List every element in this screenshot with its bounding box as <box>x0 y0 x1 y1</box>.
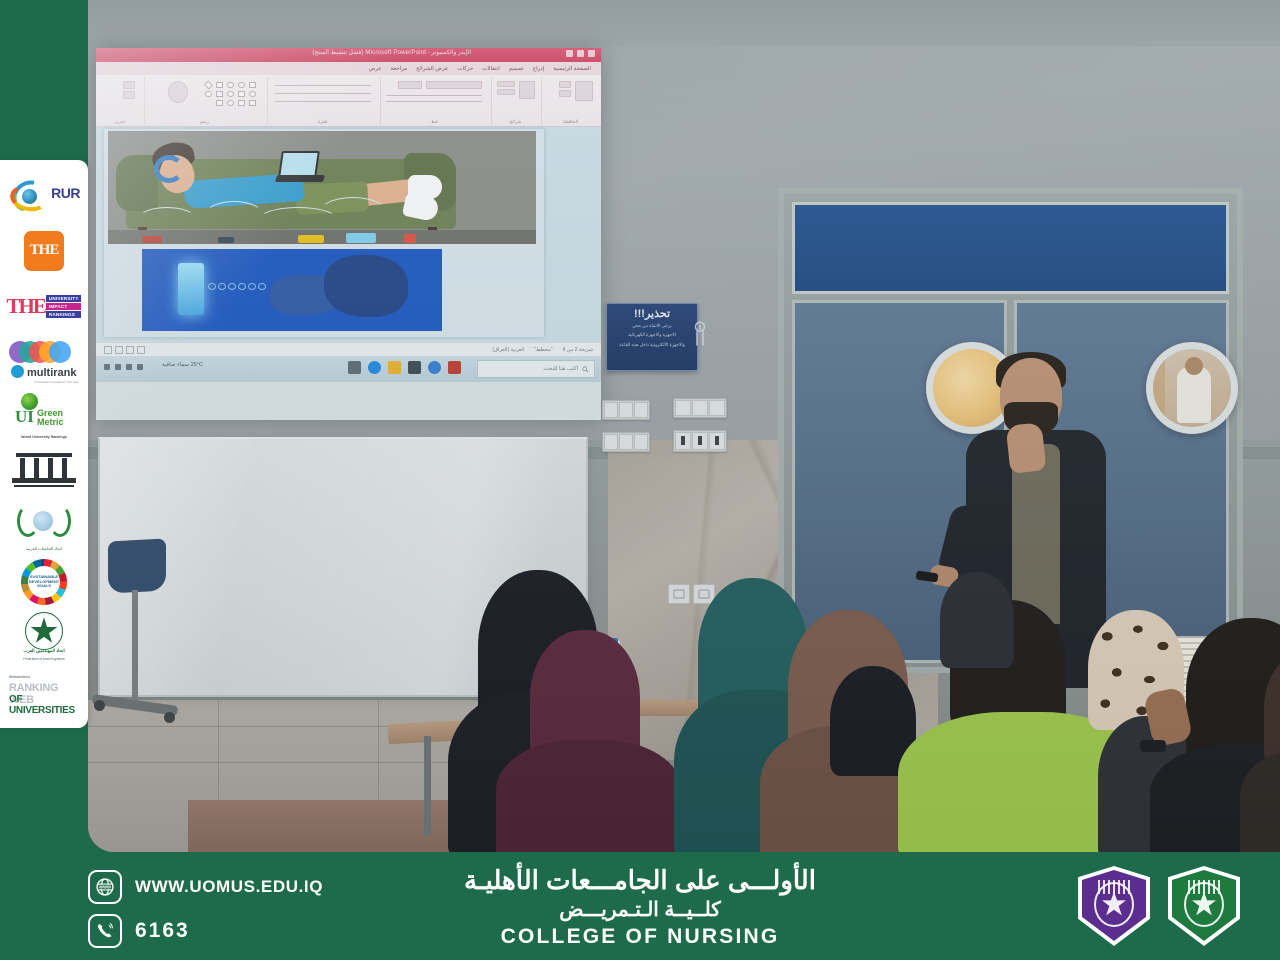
title-english: COLLEGE OF NURSING <box>310 923 970 950</box>
layout-icon[interactable] <box>497 81 515 87</box>
find-icon[interactable] <box>123 81 135 89</box>
logo-multirank-sub: Universities Compared. Your way. <box>34 380 79 384</box>
replace-icon[interactable] <box>123 91 135 99</box>
copy-icon[interactable] <box>559 90 571 97</box>
logo-rur: RUR <box>7 168 81 223</box>
light-switch-panel-1[interactable] <box>602 400 650 420</box>
language-label: العربية (العراق) <box>492 347 524 353</box>
light-switch-panel-4[interactable] <box>673 430 727 452</box>
tab-slideshow[interactable]: عرض الشرائح <box>416 66 448 72</box>
chair-stem <box>132 590 138 708</box>
phone-icon-svg <box>95 921 115 941</box>
warning-line-2: الاجهزة والاجهزة الكهربائية <box>613 332 691 338</box>
warning-line-1: يرجى الانتباه من بعض <box>613 323 691 329</box>
logo-webometrics-line-2: OF UNIVERSITIES <box>9 694 81 716</box>
window-buttons[interactable] <box>566 50 595 57</box>
ribbon-label-clipboard: الحافظة <box>542 119 599 125</box>
phone-label[interactable]: 6163 <box>135 919 190 943</box>
ribbon-label-slides: شرائح <box>492 119 539 125</box>
edge-icon[interactable] <box>428 361 441 374</box>
projection-screen: الإيدز والكمبيوتر - Microsoft PowerPoint… <box>96 48 601 420</box>
logo-greenmetric-ui: UI <box>15 407 34 427</box>
cartoon-book <box>142 236 162 243</box>
ribbon-label-font: خط <box>381 119 488 125</box>
college-title-block: الأولـــى على الجامـــعات الأهليـة كلــي… <box>310 864 970 950</box>
tab-design[interactable]: تصميم <box>509 66 524 72</box>
ribbon-group-drawing[interactable]: رسم <box>144 77 264 125</box>
ribbon-tabs[interactable]: الصفحة الرئيسية إدراج تصميم انتقالات حرك… <box>96 62 601 75</box>
presenter-hand <box>1006 422 1047 474</box>
font-size-select[interactable] <box>398 81 422 89</box>
explorer-icon[interactable] <box>388 361 401 374</box>
logo-umultirank: multirank Universities Compared. Your wa… <box>7 334 81 389</box>
logo-sdg-label: SUSTAINABLE DEVELOPMENT GOALS <box>28 575 60 588</box>
logo-fae-english: Federation of Arab Engineers <box>11 657 77 661</box>
tab-animations[interactable]: حركات <box>457 66 473 72</box>
title-arabic-line-2: كلــيــة الـتـمريـــض <box>310 897 970 923</box>
cut-icon[interactable] <box>559 81 571 88</box>
wristwatch <box>1140 740 1166 752</box>
university-crest-purple <box>1078 866 1150 946</box>
logo-impact-line-2: IMPACT <box>46 303 82 310</box>
logo-greenmetric-metric: Metric <box>37 417 64 427</box>
slide-image-couch-cartoon <box>108 131 536 244</box>
student-maroon-hijab-shoulders <box>496 740 682 852</box>
store-icon[interactable] <box>408 361 421 374</box>
logo-association-arab-universities: اتحاد الجامعات العربية <box>7 499 81 554</box>
chevron-up-icon[interactable] <box>137 364 143 370</box>
ribbon-group-font[interactable]: خط <box>380 77 488 125</box>
footer-bar: WWW WWW.UOMUS.EDU.IQ 6163 الأولـــى على … <box>0 852 1280 960</box>
sorter-view-icon[interactable] <box>126 346 134 354</box>
close-icon[interactable] <box>588 50 595 57</box>
porthole-window-right <box>1146 342 1238 434</box>
normal-view-icon[interactable] <box>137 346 145 354</box>
slide-image-chained-to-phone <box>142 249 442 331</box>
logo-building-emblem <box>7 444 81 499</box>
globe-www-icon: WWW <box>88 870 122 904</box>
globe-icon-svg: WWW <box>95 877 115 897</box>
cartoon-laptop <box>276 151 322 185</box>
logo-webometrics: Webometrics RANKING WEB OF UNIVERSITIES <box>7 665 81 720</box>
battery-icon[interactable] <box>104 364 110 370</box>
powerpoint-ribbon[interactable]: الحافظة شرائح خط <box>96 75 601 127</box>
taskbar-weather[interactable]: 25°C سماء صافية <box>162 362 203 368</box>
tab-view[interactable]: عرض <box>369 66 382 72</box>
new-slide-icon[interactable] <box>519 81 535 99</box>
taskbar-system-tray[interactable] <box>104 364 143 370</box>
maximize-icon[interactable] <box>577 50 584 57</box>
title-arabic-line-1: الأولـــى على الجامـــعات الأهليـة <box>310 864 970 897</box>
desk-leg-1 <box>424 736 431 836</box>
cartoon-phone <box>404 234 416 243</box>
slide-canvas[interactable] <box>104 129 544 337</box>
minimize-icon[interactable] <box>566 50 573 57</box>
office-chair <box>108 538 166 593</box>
warning-line-3: والاجهزة الالكترونية داخل هذه القاعة <box>613 342 691 348</box>
logo-the-impact-mark: THE <box>7 296 45 317</box>
search-placeholder-text: اكتب هنا للبحث <box>543 366 578 372</box>
classroom-photo: الإيدز والكمبيوتر - Microsoft PowerPoint… <box>88 0 1280 852</box>
reset-icon[interactable] <box>497 89 515 95</box>
logo-impact-line-1: UNIVERSITY <box>46 295 82 302</box>
slide-number-label: شريحة 2 من 4 <box>563 347 593 353</box>
powerpoint-statusbar: شريحة 2 من 4 "مخطط" العربية (العراق) <box>96 342 601 356</box>
warning-title: تحذير!!! <box>613 308 691 320</box>
svg-text:WWW: WWW <box>99 884 112 889</box>
ribbon-label-paragraph: فقرة <box>268 119 377 125</box>
ribbon-group-slides[interactable]: شرائح <box>491 77 539 125</box>
crest-block <box>1078 866 1240 946</box>
ribbon-group-paragraph[interactable]: فقرة <box>267 77 377 125</box>
logo-fae-arabic: اتحاد المهندسين العرب <box>11 648 77 654</box>
logo-arab-universities-label: اتحاد الجامعات العربية <box>11 546 77 551</box>
network-icon[interactable] <box>126 364 132 370</box>
powerpoint-titlebar: الإيدز والكمبيوتر - Microsoft PowerPoint… <box>96 48 601 62</box>
font-family-select[interactable] <box>426 81 482 89</box>
door-transom-panel <box>792 202 1229 294</box>
logo-impact-line-3: RANKINGS <box>46 311 82 318</box>
taskbar-pinned-icons[interactable] <box>348 361 461 374</box>
chair-wheel-2 <box>164 712 175 723</box>
powerpoint-title-text: الإيدز والكمبيوتر - Microsoft PowerPoint… <box>312 49 471 56</box>
tab-insert[interactable]: إدراج <box>533 66 545 72</box>
ribbon-label-editing: تحرير <box>99 119 141 125</box>
ribbon-group-editing[interactable]: تحرير <box>99 77 141 125</box>
logo-the: THE <box>7 223 81 278</box>
college-crest-green <box>1168 866 1240 946</box>
chair-wheel-1 <box>94 700 105 711</box>
slideshow-view-icon[interactable] <box>104 346 112 354</box>
ceiling <box>88 0 1280 46</box>
logo-multirank-label: multirank <box>27 367 77 379</box>
cartoon-tablet <box>346 233 376 243</box>
light-switch-panel-2[interactable] <box>673 398 727 418</box>
logo-webometrics-sub: Webometrics <box>9 675 30 679</box>
volume-icon[interactable] <box>115 364 121 370</box>
logo-greenmetric-sub: World University Rankings <box>7 435 81 439</box>
paste-icon[interactable] <box>575 81 593 101</box>
logo-rur-label: RUR <box>51 185 80 201</box>
accreditation-logo-sidebar: RUR THE THE UNIVERSITY IMPACT RANKINGS m… <box>0 160 88 728</box>
theme-name-label: "مخطط" <box>534 347 552 353</box>
browser-icon[interactable] <box>368 361 381 374</box>
cartoon-console <box>218 237 234 243</box>
taskbar-search-input[interactable]: اكتب هنا للبحث <box>477 360 595 378</box>
view-buttons[interactable] <box>104 346 145 354</box>
light-switch-panel-3[interactable] <box>602 432 650 452</box>
electric-hazard-icon <box>691 320 709 350</box>
website-label[interactable]: WWW.UOMUS.EDU.IQ <box>135 877 323 897</box>
logo-ui-greenmetric: UI Green Metric World University Ranking… <box>7 389 81 444</box>
windows-taskbar[interactable]: اكتب هنا للبحث 25°C سماء صافية <box>96 356 601 382</box>
wall-socket-1[interactable] <box>668 584 690 604</box>
logo-federation-arab-engineers: اتحاد المهندسين العرب Federation of Arab… <box>7 610 81 665</box>
logo-the-impact-rankings: THE UNIVERSITY IMPACT RANKINGS <box>7 278 81 333</box>
logo-sdg-wheel: SUSTAINABLE DEVELOPMENT GOALS <box>7 554 81 609</box>
reading-view-icon[interactable] <box>115 346 123 354</box>
slide-editing-area[interactable] <box>96 127 601 342</box>
warning-sign: تحذير!!! يرجى الانتباه من بعض الاجهزة وا… <box>606 303 698 371</box>
ribbon-group-clipboard[interactable]: الحافظة <box>541 77 599 125</box>
tab-home[interactable]: الصفحة الرئيسية <box>553 66 591 72</box>
powerpoint-icon[interactable] <box>448 361 461 374</box>
search-icon <box>582 366 589 373</box>
taskview-icon[interactable] <box>348 361 361 374</box>
ribbon-label-drawing: رسم <box>145 119 264 125</box>
tab-review[interactable]: مراجعة <box>391 66 408 72</box>
tab-transitions[interactable]: انتقالات <box>482 66 500 72</box>
student-left-edge <box>940 572 1014 668</box>
cartoon-snacks <box>298 235 324 243</box>
phone-icon <box>88 914 122 948</box>
shape-fill-icon[interactable] <box>168 81 188 103</box>
logo-the-label: THE <box>30 242 59 259</box>
